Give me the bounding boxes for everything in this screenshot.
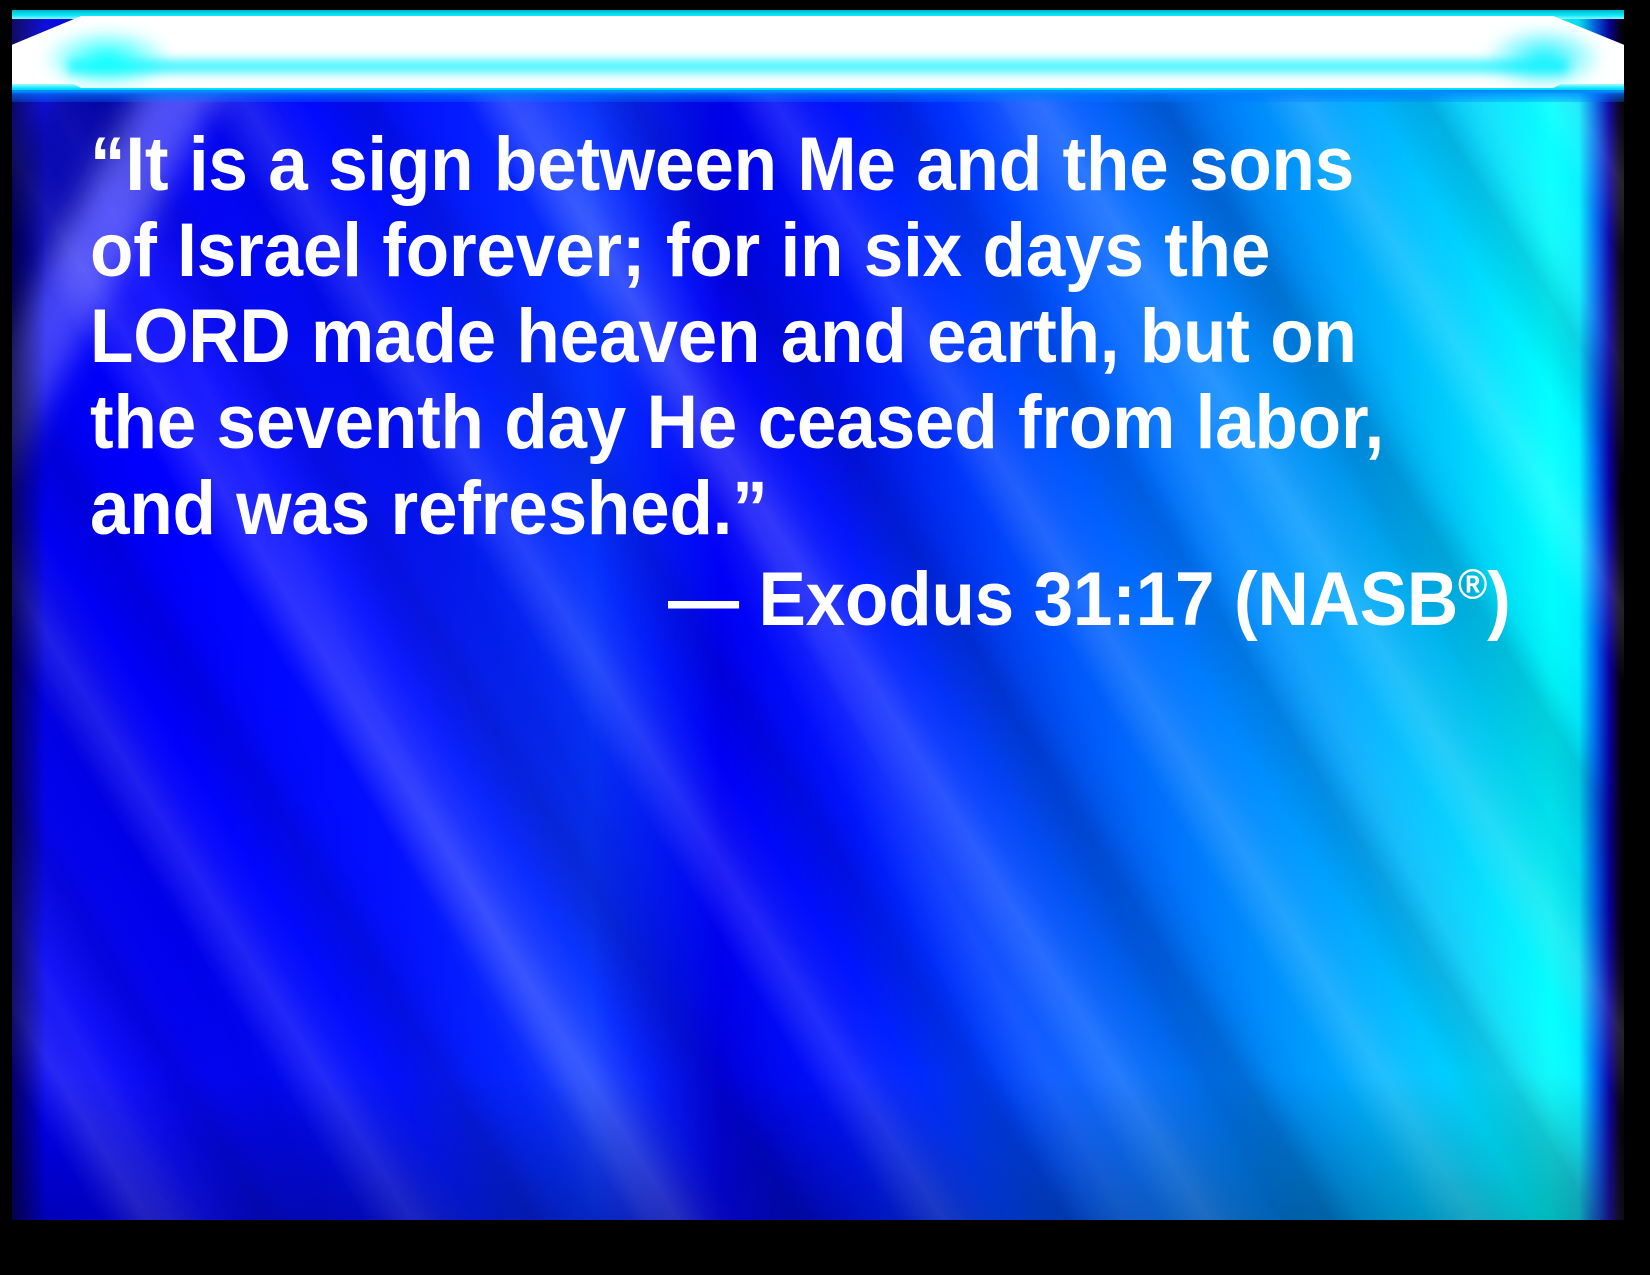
attribution-reference: 31:17: [1034, 557, 1215, 642]
bible-verse-slide: “It is a sign between Me and the sons of…: [0, 0, 1650, 1275]
top-highlight-banner: [12, 10, 1624, 102]
slide-stage: “It is a sign between Me and the sons of…: [12, 10, 1624, 1220]
banner-white-bar: [12, 16, 1624, 92]
verse-scripture-text: “It is a sign between Me and the sons of…: [90, 122, 1427, 552]
attribution-book: Exodus: [758, 557, 1014, 642]
verse-content: “It is a sign between Me and the sons of…: [90, 122, 1520, 646]
banner-left-cyan-notch: [42, 28, 172, 90]
verse-attribution: — Exodus 31:17 (NASB®): [183, 552, 1520, 646]
attribution-version-open: (NASB: [1234, 557, 1458, 642]
banner-right-cyan-notch: [1484, 26, 1604, 90]
attribution-version-close: ): [1487, 557, 1510, 642]
registered-trademark-icon: ®: [1458, 561, 1487, 609]
attribution-em-dash: —: [668, 557, 739, 642]
banner-inner-cyan-streak: [68, 58, 1567, 74]
banner-blue-fade: [12, 90, 1624, 102]
